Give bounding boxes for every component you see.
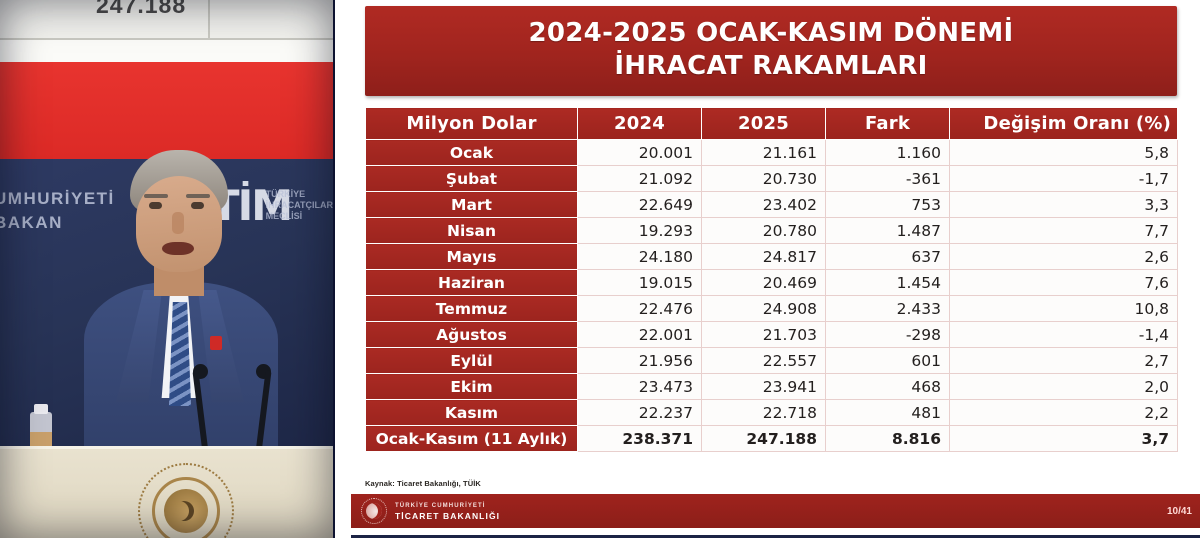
- speaker-nose: [172, 212, 184, 234]
- cell-degisim: 2,2: [950, 400, 1178, 426]
- screen-grid-vline: [208, 0, 210, 38]
- speaker-eye-left: [149, 202, 162, 209]
- table-row: Nisan 19.293 20.780 1.487 7,7: [366, 218, 1178, 244]
- cell-2024: 19.293: [578, 218, 702, 244]
- projection-screen-figure: 247.188: [96, 0, 186, 19]
- cell-degisim: 7,7: [950, 218, 1178, 244]
- cell-degisim: -1,4: [950, 322, 1178, 348]
- cell-2024: 21.956: [578, 348, 702, 374]
- table-row: Temmuz 22.476 24.908 2.433 10,8: [366, 296, 1178, 322]
- row-label: Haziran: [366, 270, 578, 296]
- table-row: Kasım 22.237 22.718 481 2,2: [366, 400, 1178, 426]
- cell-fark: 468: [826, 374, 950, 400]
- cell-fark: 753: [826, 192, 950, 218]
- cell-fark: 1.487: [826, 218, 950, 244]
- table-header: Milyon Dolar 2024 2025 Fark Değişim Oran…: [366, 108, 1178, 140]
- speaker-eye-right: [191, 202, 204, 209]
- slide-title-line-1: 2024-2025 OCAK-KASIM DÖNEMİ: [529, 17, 1014, 50]
- cell-2025: 23.941: [702, 374, 826, 400]
- total-cell-2024: 238.371: [578, 426, 702, 452]
- speaker-eyebrow-left: [144, 194, 168, 198]
- export-figures-table: Milyon Dolar 2024 2025 Fark Değişim Oran…: [365, 107, 1178, 452]
- cell-2025: 21.161: [702, 140, 826, 166]
- cell-fark: 1.454: [826, 270, 950, 296]
- slide-bottom-strip: [351, 530, 1200, 538]
- cell-degisim: 2,7: [950, 348, 1178, 374]
- row-label: Mart: [366, 192, 578, 218]
- speaker-flag-pin: [210, 336, 222, 350]
- column-header-fark: Fark: [826, 108, 950, 140]
- cell-2024: 22.001: [578, 322, 702, 348]
- cell-fark: 2.433: [826, 296, 950, 322]
- cell-2025: 21.703: [702, 322, 826, 348]
- total-row-label: Ocak-Kasım (11 Aylık): [366, 426, 578, 452]
- row-label: Şubat: [366, 166, 578, 192]
- cell-2024: 24.180: [578, 244, 702, 270]
- cell-fark: 601: [826, 348, 950, 374]
- cell-2024: 22.649: [578, 192, 702, 218]
- ministry-emblem-inner: [366, 503, 382, 519]
- row-label: Kasım: [366, 400, 578, 426]
- table-row: Eylül 21.956 22.557 601 2,7: [366, 348, 1178, 374]
- table-row: Mayıs 24.180 24.817 637 2,6: [366, 244, 1178, 270]
- table-row: Ağustos 22.001 21.703 -298 -1,4: [366, 322, 1178, 348]
- cell-2025: 20.730: [702, 166, 826, 192]
- cell-degisim: 3,3: [950, 192, 1178, 218]
- cell-2025: 20.469: [702, 270, 826, 296]
- table-row: Haziran 19.015 20.469 1.454 7,6: [366, 270, 1178, 296]
- total-cell-degisim: 3,7: [950, 426, 1178, 452]
- ministry-emblem-icon: [361, 498, 387, 524]
- cell-2024: 23.473: [578, 374, 702, 400]
- row-label: Ağustos: [366, 322, 578, 348]
- cell-2025: 23.402: [702, 192, 826, 218]
- podium-panel: [0, 446, 335, 538]
- table-body: Ocak 20.001 21.161 1.160 5,8 Şubat 21.09…: [366, 140, 1178, 452]
- cell-degisim: 5,8: [950, 140, 1178, 166]
- cell-degisim: 10,8: [950, 296, 1178, 322]
- cell-2024: 22.476: [578, 296, 702, 322]
- cell-2025: 24.908: [702, 296, 826, 322]
- screenshot-root: 247.188 UMHURİYETİ BAKAN TİM TÜRKİYE İHR…: [0, 0, 1200, 538]
- cell-2024: 22.237: [578, 400, 702, 426]
- column-header-degisim-orani: Değişim Oranı (%): [950, 108, 1178, 140]
- table-total-row: Ocak-Kasım (11 Aylık) 238.371 247.188 8.…: [366, 426, 1178, 452]
- row-label: Mayıs: [366, 244, 578, 270]
- cell-degisim: 2,6: [950, 244, 1178, 270]
- table-row: Ekim 23.473 23.941 468 2,0: [366, 374, 1178, 400]
- column-header-2025: 2025: [702, 108, 826, 140]
- speaker-figure: [86, 150, 276, 450]
- cell-fark: -361: [826, 166, 950, 192]
- slide-content: 2024-2025 OCAK-KASIM DÖNEMİ İHRACAT RAKA…: [343, 0, 1200, 538]
- cell-fark: 1.160: [826, 140, 950, 166]
- crescent-icon: [174, 501, 194, 521]
- cell-fark: 481: [826, 400, 950, 426]
- speaker-eyebrow-right: [186, 194, 210, 198]
- cell-2024: 19.015: [578, 270, 702, 296]
- row-label: Eylül: [366, 348, 578, 374]
- slide-title-line-2: İHRACAT RAKAMLARI: [614, 50, 927, 83]
- cell-2025: 22.718: [702, 400, 826, 426]
- ministry-name-line-2: TİCARET BAKANLIĞI: [395, 511, 500, 521]
- presentation-slide: 2024-2025 OCAK-KASIM DÖNEMİ İHRACAT RAKA…: [335, 0, 1200, 538]
- cell-fark: 637: [826, 244, 950, 270]
- row-label: Temmuz: [366, 296, 578, 322]
- cell-2024: 20.001: [578, 140, 702, 166]
- cell-fark: -298: [826, 322, 950, 348]
- row-label: Ocak: [366, 140, 578, 166]
- projection-screen: 247.188: [0, 0, 335, 62]
- column-header-unit: Milyon Dolar: [366, 108, 578, 140]
- total-cell-2025: 247.188: [702, 426, 826, 452]
- slide-title-box: 2024-2025 OCAK-KASIM DÖNEMİ İHRACAT RAKA…: [365, 6, 1177, 96]
- cell-degisim: 7,6: [950, 270, 1178, 296]
- table-header-row: Milyon Dolar 2024 2025 Fark Değişim Oran…: [366, 108, 1178, 140]
- screen-lower-band: [0, 40, 335, 62]
- cell-degisim: 2,0: [950, 374, 1178, 400]
- total-cell-fark: 8.816: [826, 426, 950, 452]
- cell-2025: 22.557: [702, 348, 826, 374]
- column-header-2024: 2024: [578, 108, 702, 140]
- cell-2024: 21.092: [578, 166, 702, 192]
- speaker-mouth: [162, 242, 194, 255]
- ministry-name-line-1: TÜRKİYE CUMHURİYETİ: [395, 501, 500, 511]
- video-feed-panel[interactable]: 247.188 UMHURİYETİ BAKAN TİM TÜRKİYE İHR…: [0, 0, 335, 538]
- slide-page-number: 10/41: [1167, 506, 1192, 517]
- cell-degisim: -1,7: [950, 166, 1178, 192]
- slide-footer: TÜRKİYE CUMHURİYETİ TİCARET BAKANLIĞI 10…: [351, 494, 1200, 528]
- table-row: Şubat 21.092 20.730 -361 -1,7: [366, 166, 1178, 192]
- backdrop-red-band: [0, 62, 335, 159]
- ministry-name: TÜRKİYE CUMHURİYETİ TİCARET BAKANLIĞI: [395, 501, 500, 521]
- cell-2025: 20.780: [702, 218, 826, 244]
- table-row: Mart 22.649 23.402 753 3,3: [366, 192, 1178, 218]
- row-label: Nisan: [366, 218, 578, 244]
- table-row: Ocak 20.001 21.161 1.160 5,8: [366, 140, 1178, 166]
- cell-2025: 24.817: [702, 244, 826, 270]
- source-note: Kaynak: Ticaret Bakanlığı, TÜİK: [365, 479, 481, 488]
- state-emblem-icon: [138, 463, 234, 538]
- row-label: Ekim: [366, 374, 578, 400]
